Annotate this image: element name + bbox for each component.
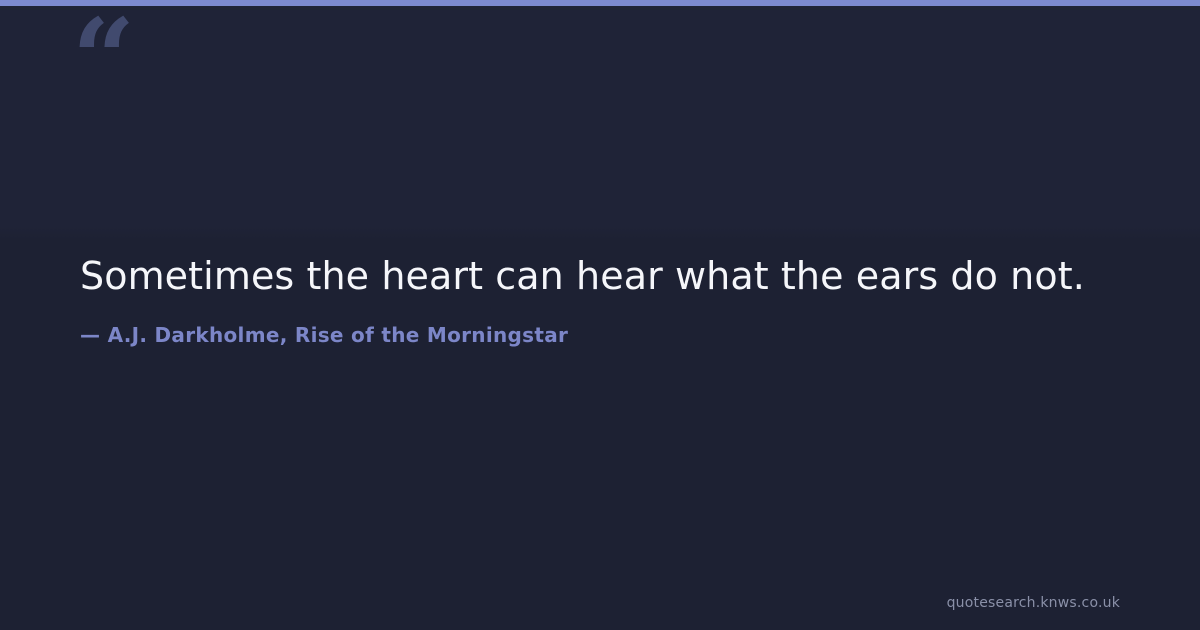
quote-body: Sometimes the heart can hear what the ea… [80,252,1140,347]
open-quote-icon: “ [72,4,133,114]
quote-attribution: — A.J. Darkholme, Rise of the Morningsta… [80,323,1140,347]
quote-card: “ Sometimes the heart can hear what the … [0,0,1200,630]
quote-text: Sometimes the heart can hear what the ea… [80,252,1140,301]
site-watermark: quotesearch.knws.co.uk [947,596,1120,610]
top-accent-bar [0,0,1200,6]
